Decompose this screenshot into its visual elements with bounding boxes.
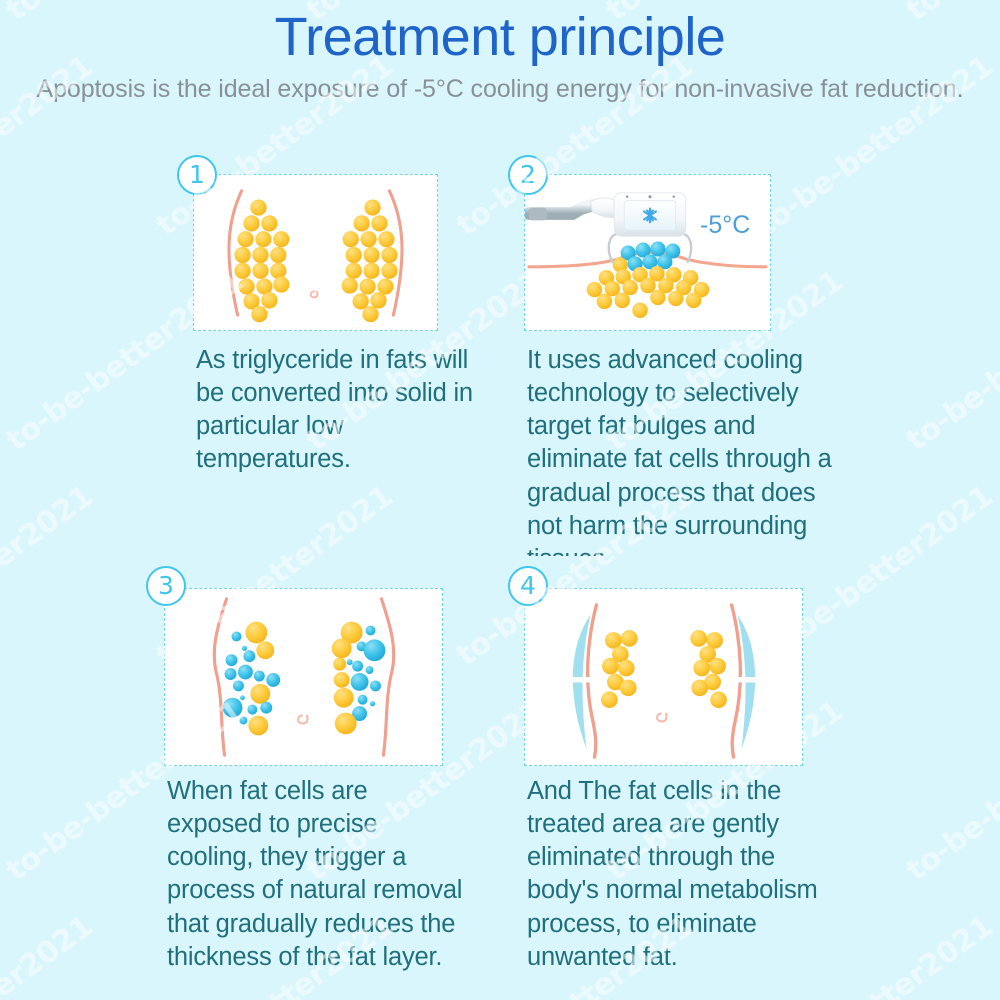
step-3-illustration-panel	[164, 588, 443, 766]
step-3-number-badge: 3	[146, 566, 186, 606]
cryo-handpiece-illustration	[525, 175, 770, 330]
step-4-illustration-panel	[524, 588, 803, 766]
step-2-number-badge: 2	[508, 155, 548, 195]
page-subtitle: Apoptosis is the ideal exposure of -5°C …	[0, 73, 1000, 106]
step-4-number-badge: 4	[508, 566, 548, 606]
step-2-illustration-panel: -5°C	[524, 174, 771, 331]
watermark-text: to-be-better2021	[900, 694, 1000, 889]
step-4-caption: And The fat cells in the treated area ar…	[527, 775, 837, 965]
step-1-caption: As triglyceride in fats will be converte…	[196, 344, 496, 472]
temperature-label: -5°C	[700, 211, 750, 240]
watermark-layer: to-be-better2021to-be-better2021to-be-be…	[0, 0, 1000, 1000]
torso-reduction-arrows-illustration	[525, 589, 802, 765]
page-title: Treatment principle	[0, 8, 1000, 67]
step-1-illustration-panel	[193, 174, 438, 331]
torso-dense-fat-illustration	[194, 175, 437, 330]
step-2-caption: It uses advanced cooling technology to s…	[527, 344, 837, 556]
step-3-caption: When fat cells are exposed to precise co…	[167, 775, 467, 997]
torso-mixed-cells-illustration	[165, 589, 442, 765]
step-1-number-badge: 1	[177, 155, 217, 195]
header: Treatment principle Apoptosis is the ide…	[0, 8, 1000, 106]
watermark-text: to-be-better2021	[0, 909, 99, 1000]
watermark-text: to-be-better2021	[0, 479, 99, 674]
watermark-text: to-be-better2021	[900, 264, 1000, 459]
